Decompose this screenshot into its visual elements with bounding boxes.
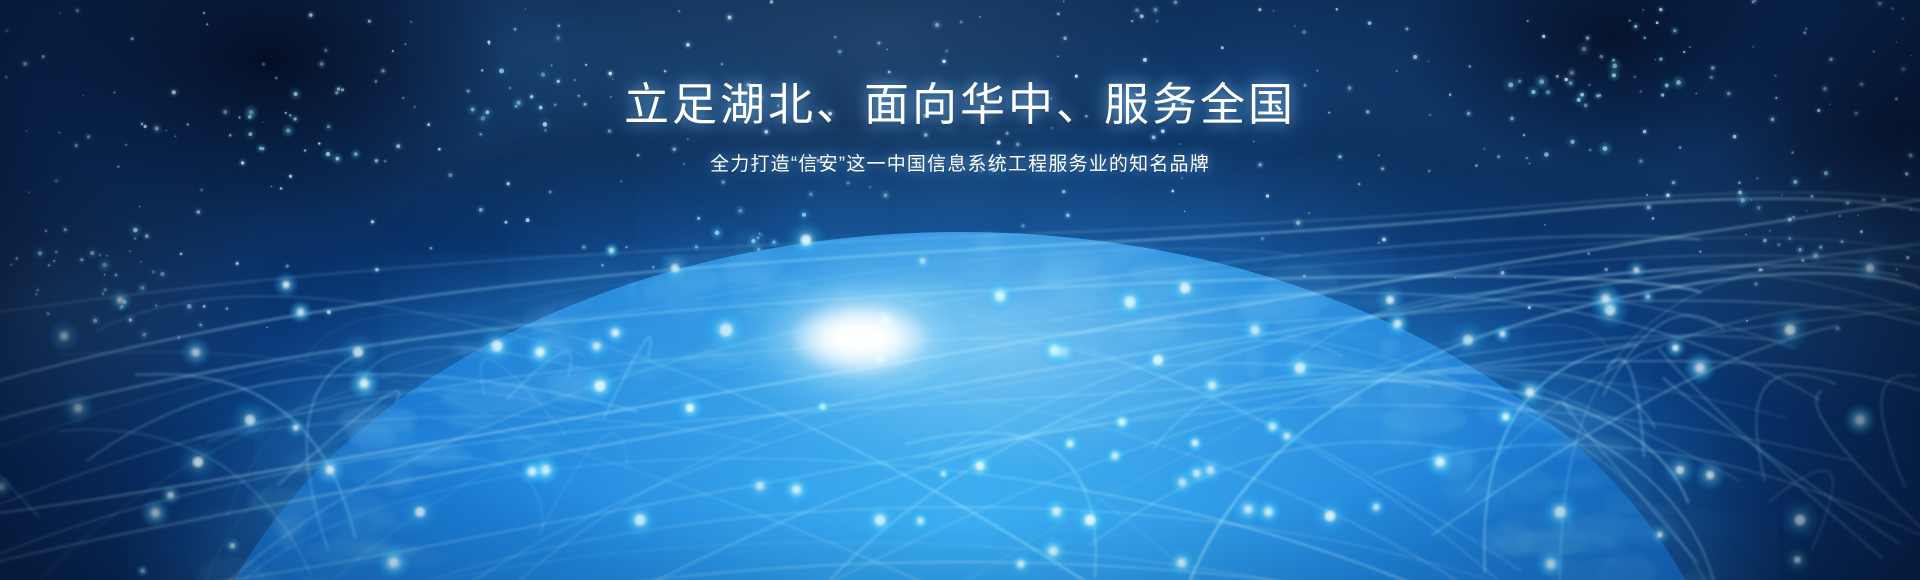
banner-copy: 立足湖北、面向华中、服务全国 全力打造“信安”这一中国信息系统工程服务业的知名品… bbox=[0, 78, 1920, 180]
hero-banner: 立足湖北、面向华中、服务全国 全力打造“信安”这一中国信息系统工程服务业的知名品… bbox=[0, 0, 1920, 580]
page-subtitle: 全力打造“信安”这一中国信息系统工程服务业的知名品牌 bbox=[0, 151, 1920, 180]
core-light-hotspot bbox=[785, 306, 935, 370]
page-title: 立足湖北、面向华中、服务全国 bbox=[0, 78, 1920, 131]
